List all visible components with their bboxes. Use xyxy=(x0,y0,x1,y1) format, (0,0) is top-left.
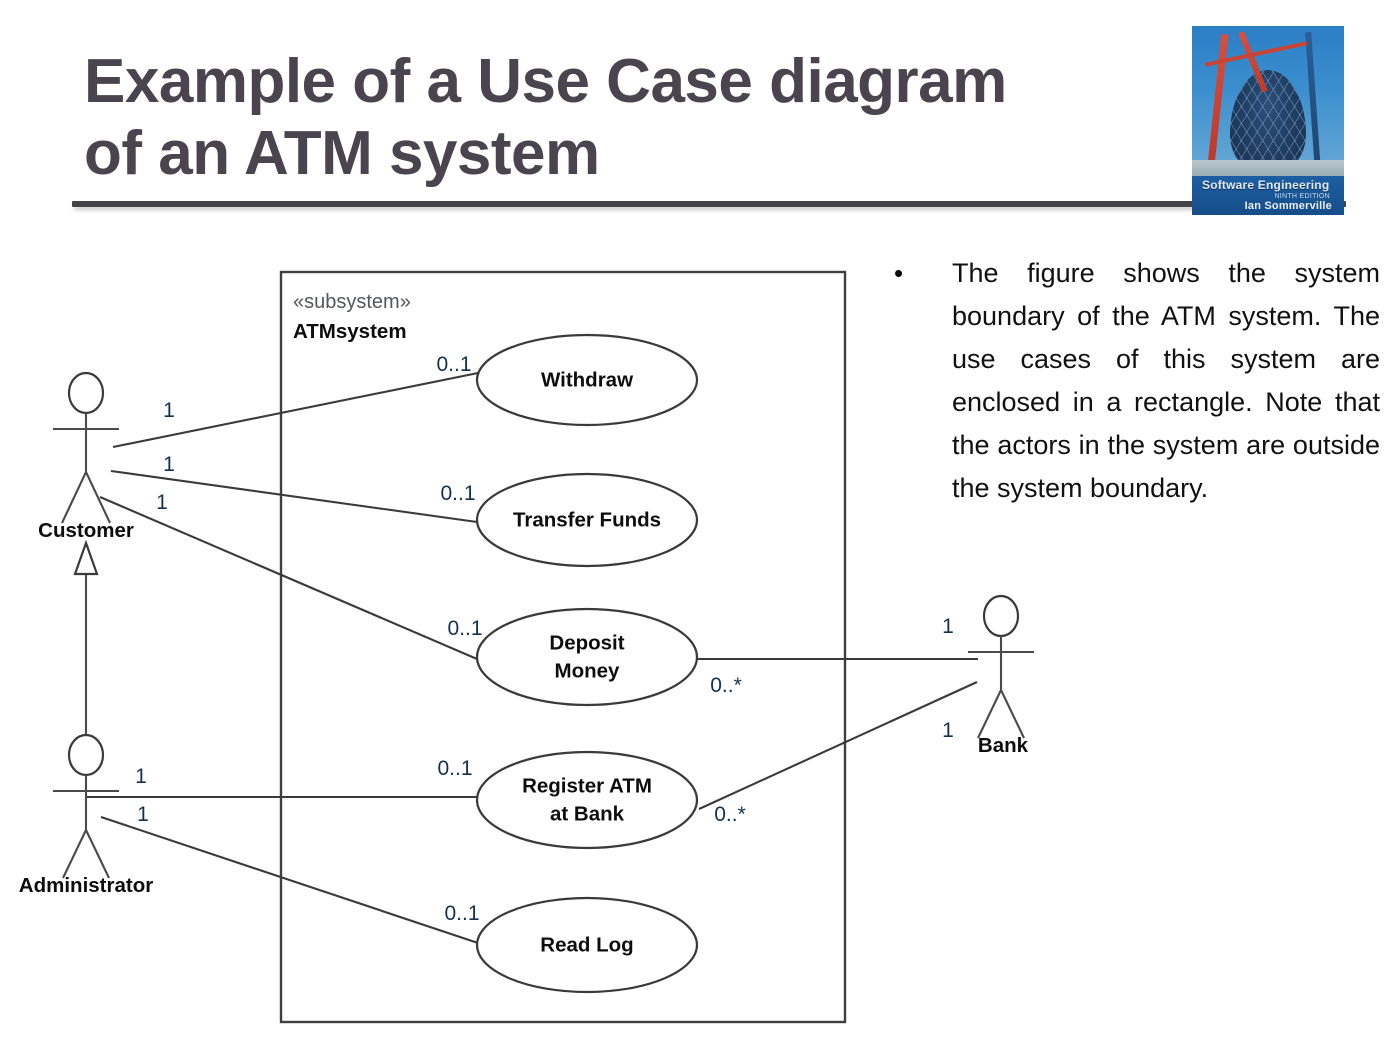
use-case-label-register-atm-line1: Register ATM xyxy=(522,774,652,797)
multiplicity-withdraw-left: 0..1 xyxy=(436,353,471,376)
actor-label-customer: Customer xyxy=(38,519,134,542)
book-cover-author: Ian Sommerville xyxy=(1245,200,1332,212)
actor-label-bank: Bank xyxy=(978,734,1029,757)
use-case-withdraw[interactable]: Withdraw xyxy=(477,335,697,425)
bullet-text: The figure shows the system boundary of … xyxy=(952,252,1380,510)
customer-head-icon xyxy=(69,373,103,413)
multiplicity-register-left: 0..1 xyxy=(437,757,472,780)
subsystem-stereotype: «subsystem» xyxy=(293,291,411,313)
customer-leg-right-icon xyxy=(86,472,110,523)
title-divider xyxy=(72,201,1346,207)
multiplicity-bank-deposit: 1 xyxy=(942,615,954,638)
customer-leg-left-icon xyxy=(62,472,86,523)
use-case-ellipse-deposit-money xyxy=(477,609,697,705)
use-case-label-deposit-money-line1: Deposit xyxy=(549,631,624,654)
actor-customer[interactable]: Customer xyxy=(38,373,134,542)
actor-administrator[interactable]: Administrator xyxy=(19,735,153,897)
bank-leg-left-icon xyxy=(978,690,1001,738)
association-customer-deposit xyxy=(100,497,477,659)
use-case-label-transfer-funds: Transfer Funds xyxy=(513,508,661,531)
use-case-transfer-funds[interactable]: Transfer Funds xyxy=(477,474,697,566)
notes-panel: • The figure shows the system boundary o… xyxy=(884,252,1380,510)
multiplicity-readlog-left: 0..1 xyxy=(444,902,479,925)
use-case-deposit-money[interactable]: Deposit Money xyxy=(477,609,697,705)
bullet-list-item: • The figure shows the system boundary o… xyxy=(884,252,1380,510)
administrator-leg-right-icon xyxy=(86,830,109,878)
use-case-label-register-atm-line2: at Bank xyxy=(550,802,625,825)
multiplicity-transfer-left: 0..1 xyxy=(440,482,475,505)
multiplicity-deposit-left: 0..1 xyxy=(447,617,482,640)
multiplicity-customer-withdraw: 1 xyxy=(163,399,175,422)
multiplicity-deposit-right: 0..* xyxy=(710,674,742,697)
multiplicity-customer-transfer: 1 xyxy=(163,453,175,476)
multiplicity-register-right: 0..* xyxy=(714,803,746,826)
use-case-label-read-log: Read Log xyxy=(540,933,633,956)
actor-label-administrator: Administrator xyxy=(19,874,153,897)
multiplicity-admin-register: 1 xyxy=(135,765,147,788)
actor-bank[interactable]: Bank xyxy=(968,596,1034,757)
slide-header: Example of a Use Case diagram of an ATM … xyxy=(0,0,1388,230)
book-cover-title: Software Engineering xyxy=(1202,178,1329,192)
book-cover-image: Software Engineering NINTH EDITION Ian S… xyxy=(1192,26,1344,215)
multiplicity-bank-register: 1 xyxy=(942,719,954,742)
use-case-label-deposit-money-line2: Money xyxy=(555,659,621,682)
generalization-arrowhead xyxy=(75,543,97,574)
administrator-leg-left-icon xyxy=(63,830,86,878)
use-case-ellipse-register-atm-at-bank xyxy=(477,752,697,848)
subsystem-name: ATMsystem xyxy=(293,320,407,343)
page-title: Example of a Use Case diagram of an ATM … xyxy=(84,46,1184,190)
book-cover-edition: NINTH EDITION xyxy=(1274,193,1330,200)
association-register-bank xyxy=(699,682,977,809)
bank-leg-right-icon xyxy=(1001,690,1024,738)
use-case-label-withdraw: Withdraw xyxy=(541,368,633,391)
association-administrator-readlog xyxy=(101,817,478,943)
administrator-head-icon xyxy=(69,735,103,775)
bullet-marker-icon: • xyxy=(884,252,952,295)
use-case-read-log[interactable]: Read Log xyxy=(477,898,697,992)
multiplicity-customer-deposit: 1 xyxy=(156,491,168,514)
use-case-register-atm-at-bank[interactable]: Register ATM at Bank xyxy=(477,752,697,848)
bank-head-icon xyxy=(984,596,1018,636)
multiplicity-admin-readlog: 1 xyxy=(137,803,149,826)
